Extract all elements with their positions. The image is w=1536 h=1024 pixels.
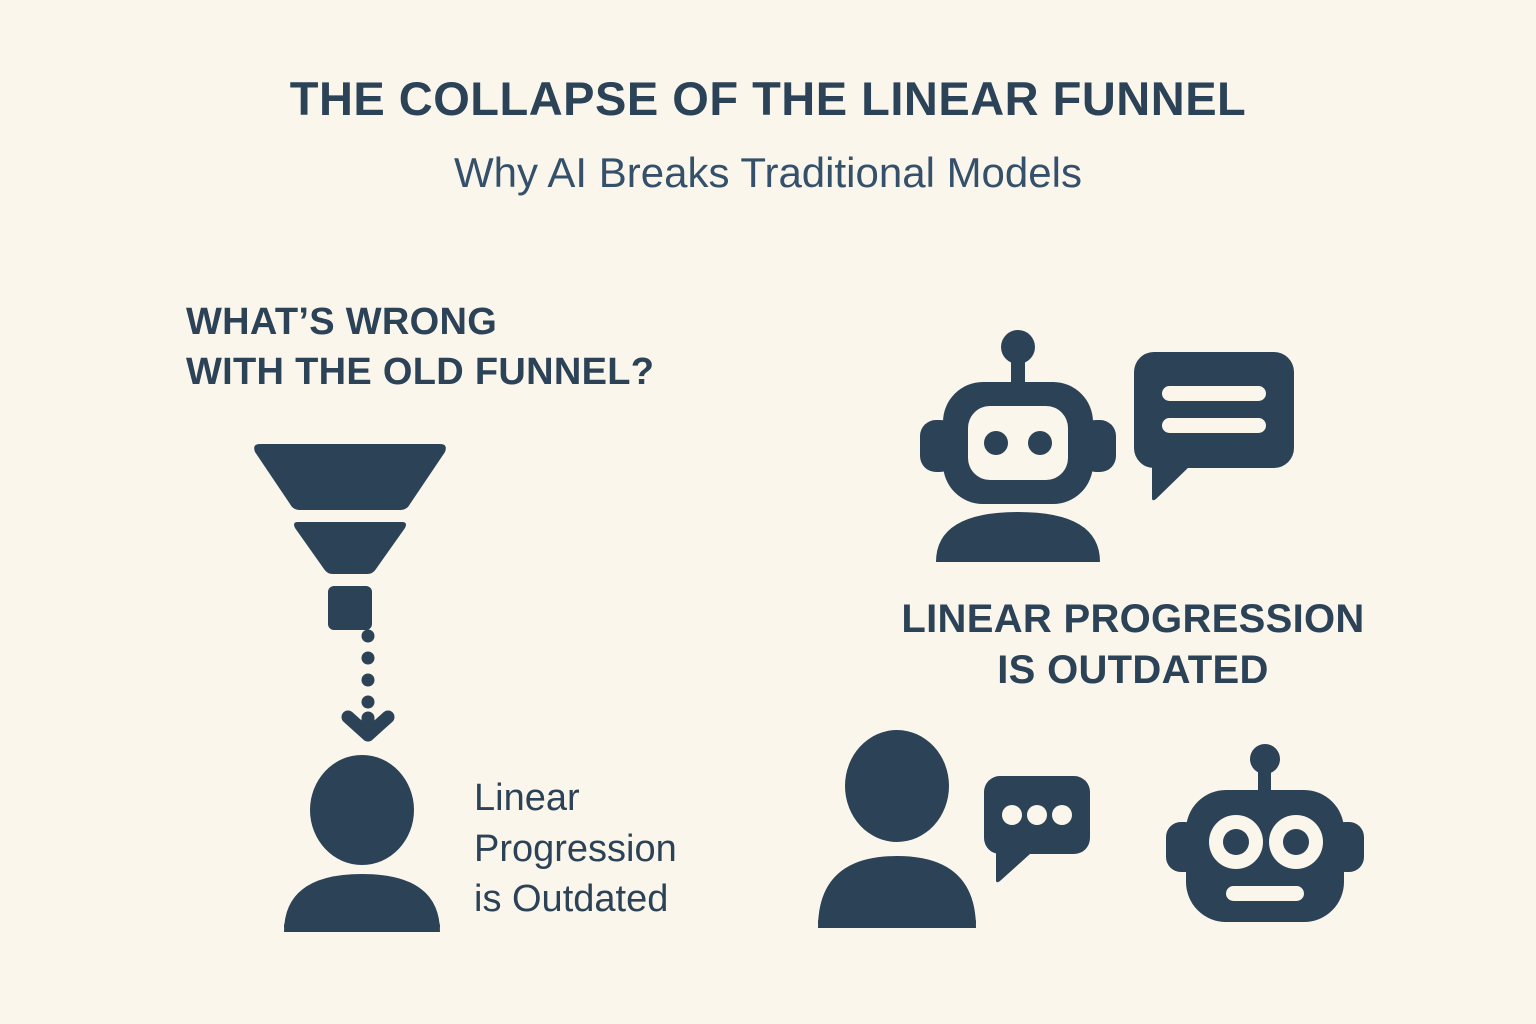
funnel-icon: [252, 440, 448, 616]
right-section-heading: LINEAR PROGRESSION IS OUTDATED: [826, 594, 1440, 696]
page-subtitle: Why AI Breaks Traditional Models: [0, 150, 1536, 196]
left-caption-line-3: is Outdated: [474, 874, 774, 925]
robot-icon: [918, 330, 1118, 562]
left-caption-line-1: Linear: [474, 773, 774, 824]
left-heading-line-2: WITH THE OLD FUNNEL?: [186, 347, 866, 397]
left-section-heading: WHAT’S WRONG WITH THE OLD FUNNEL?: [186, 297, 866, 397]
person-icon: [812, 728, 982, 928]
right-heading-line-2: IS OUTDATED: [826, 645, 1440, 696]
speech-bubble-lines-icon: [1134, 352, 1294, 500]
page-title: THE COLLAPSE OF THE LINEAR FUNNEL: [0, 74, 1536, 125]
dotted-down-arrow-icon: [338, 630, 398, 740]
robot-face-icon: [1166, 744, 1364, 928]
person-icon: [272, 752, 452, 932]
speech-bubble-dots-icon: [984, 776, 1090, 884]
left-section-caption: Linear Progression is Outdated: [474, 773, 774, 925]
infographic-canvas: THE COLLAPSE OF THE LINEAR FUNNEL Why AI…: [0, 0, 1536, 1024]
right-heading-line-1: LINEAR PROGRESSION: [826, 594, 1440, 645]
left-caption-line-2: Progression: [474, 824, 774, 875]
left-heading-line-1: WHAT’S WRONG: [186, 297, 866, 347]
